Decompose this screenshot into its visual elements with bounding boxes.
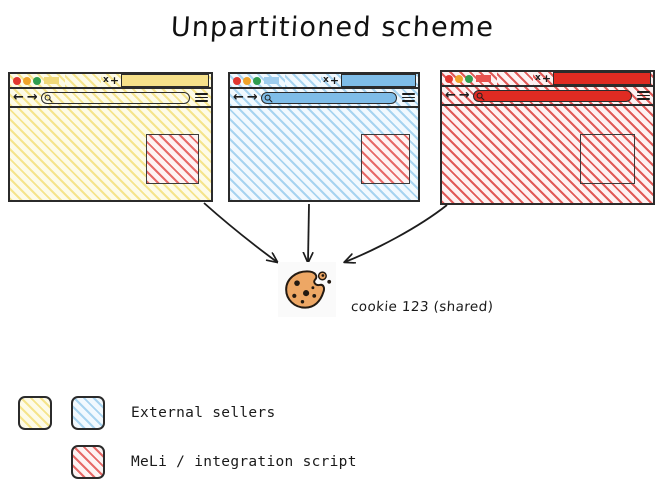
tab-inactive-blue[interactable] <box>285 74 321 87</box>
diagram-canvas: Unpartitioned scheme x + ← → <box>0 0 665 498</box>
back-arrow-icon[interactable]: ← <box>233 91 244 104</box>
toolbar-red: ← → <box>442 87 653 106</box>
browser-window-yellow[interactable]: x + ← → <box>8 72 213 202</box>
close-dot-icon[interactable] <box>13 77 21 85</box>
url-input-red[interactable] <box>473 90 632 102</box>
tab-close-icon[interactable]: x <box>535 74 541 83</box>
window-controls-red[interactable] <box>442 75 491 83</box>
magnifier-icon <box>44 94 53 103</box>
viewport-blue <box>230 108 418 200</box>
forward-arrow-icon[interactable]: → <box>459 89 470 102</box>
arrow-from-yellow-window <box>204 203 277 262</box>
close-dot-icon[interactable] <box>233 77 241 85</box>
url-input-blue[interactable] <box>261 92 397 104</box>
browser-window-red[interactable]: x + ← → <box>440 70 655 205</box>
minimize-dot-icon[interactable] <box>23 77 31 85</box>
window-chrome-blue: x + ← → <box>230 74 418 108</box>
cookie-label: cookie 123 (shared) <box>350 299 493 315</box>
new-tab-icon[interactable]: + <box>542 73 551 84</box>
iframe-integration-script-yellow[interactable] <box>146 134 199 184</box>
tab-close-icon[interactable]: x <box>323 76 329 85</box>
tab-bar-blue: x + <box>230 74 418 89</box>
tab-bar-yellow: x + <box>10 74 211 89</box>
toolbar-yellow: ← → <box>10 89 211 108</box>
tab-stub-icon <box>44 77 59 84</box>
browser-window-blue[interactable]: x + ← → <box>228 72 420 202</box>
magnifier-icon <box>476 92 485 101</box>
back-arrow-icon[interactable]: ← <box>445 89 456 102</box>
viewport-red <box>442 106 653 203</box>
new-tab-icon[interactable]: + <box>110 75 119 86</box>
page-title: Unpartitioned scheme <box>0 12 665 43</box>
tab-active-blue[interactable] <box>341 74 416 87</box>
cookie-node[interactable] <box>278 262 336 317</box>
arrow-from-red-window <box>345 205 447 262</box>
legend-row-meli: MeLi / integration script <box>71 445 357 479</box>
hamburger-icon[interactable] <box>195 93 208 102</box>
window-controls-blue[interactable] <box>230 77 279 85</box>
legend-label-external-sellers: External sellers <box>131 405 275 421</box>
url-input-yellow[interactable] <box>41 92 190 104</box>
window-chrome-red: x + ← → <box>442 72 653 106</box>
window-chrome-yellow: x + ← → <box>10 74 211 108</box>
new-tab-icon[interactable]: + <box>330 75 339 86</box>
close-dot-icon[interactable] <box>445 75 453 83</box>
tab-close-icon[interactable]: x <box>103 76 109 85</box>
hamburger-icon[interactable] <box>402 93 415 102</box>
forward-arrow-icon[interactable]: → <box>27 91 38 104</box>
iframe-integration-script-blue[interactable] <box>361 134 410 184</box>
tab-stub-icon <box>264 77 279 84</box>
cookie-icon <box>278 262 336 317</box>
window-controls-yellow[interactable] <box>10 77 59 85</box>
maximize-dot-icon[interactable] <box>33 77 41 85</box>
tab-inactive-red[interactable] <box>497 72 533 85</box>
back-arrow-icon[interactable]: ← <box>13 91 24 104</box>
iframe-integration-script-red[interactable] <box>580 134 635 184</box>
forward-arrow-icon[interactable]: → <box>247 91 258 104</box>
maximize-dot-icon[interactable] <box>465 75 473 83</box>
tab-bar-red: x + <box>442 72 653 87</box>
legend-swatch-blue <box>71 396 105 430</box>
tab-stub-icon <box>476 75 491 82</box>
arrow-from-blue-window <box>308 204 309 262</box>
tab-active-red[interactable] <box>553 72 651 85</box>
minimize-dot-icon[interactable] <box>243 77 251 85</box>
minimize-dot-icon[interactable] <box>455 75 463 83</box>
legend-label-meli: MeLi / integration script <box>131 454 357 470</box>
toolbar-blue: ← → <box>230 89 418 108</box>
legend-row-external-sellers: External sellers <box>18 396 275 430</box>
viewport-yellow <box>10 108 211 200</box>
legend-swatch-yellow <box>18 396 52 430</box>
tab-active-yellow[interactable] <box>121 74 209 87</box>
tab-inactive-yellow[interactable] <box>65 74 101 87</box>
hamburger-icon[interactable] <box>637 91 650 100</box>
maximize-dot-icon[interactable] <box>253 77 261 85</box>
legend-swatch-red <box>71 445 105 479</box>
magnifier-icon <box>264 94 273 103</box>
